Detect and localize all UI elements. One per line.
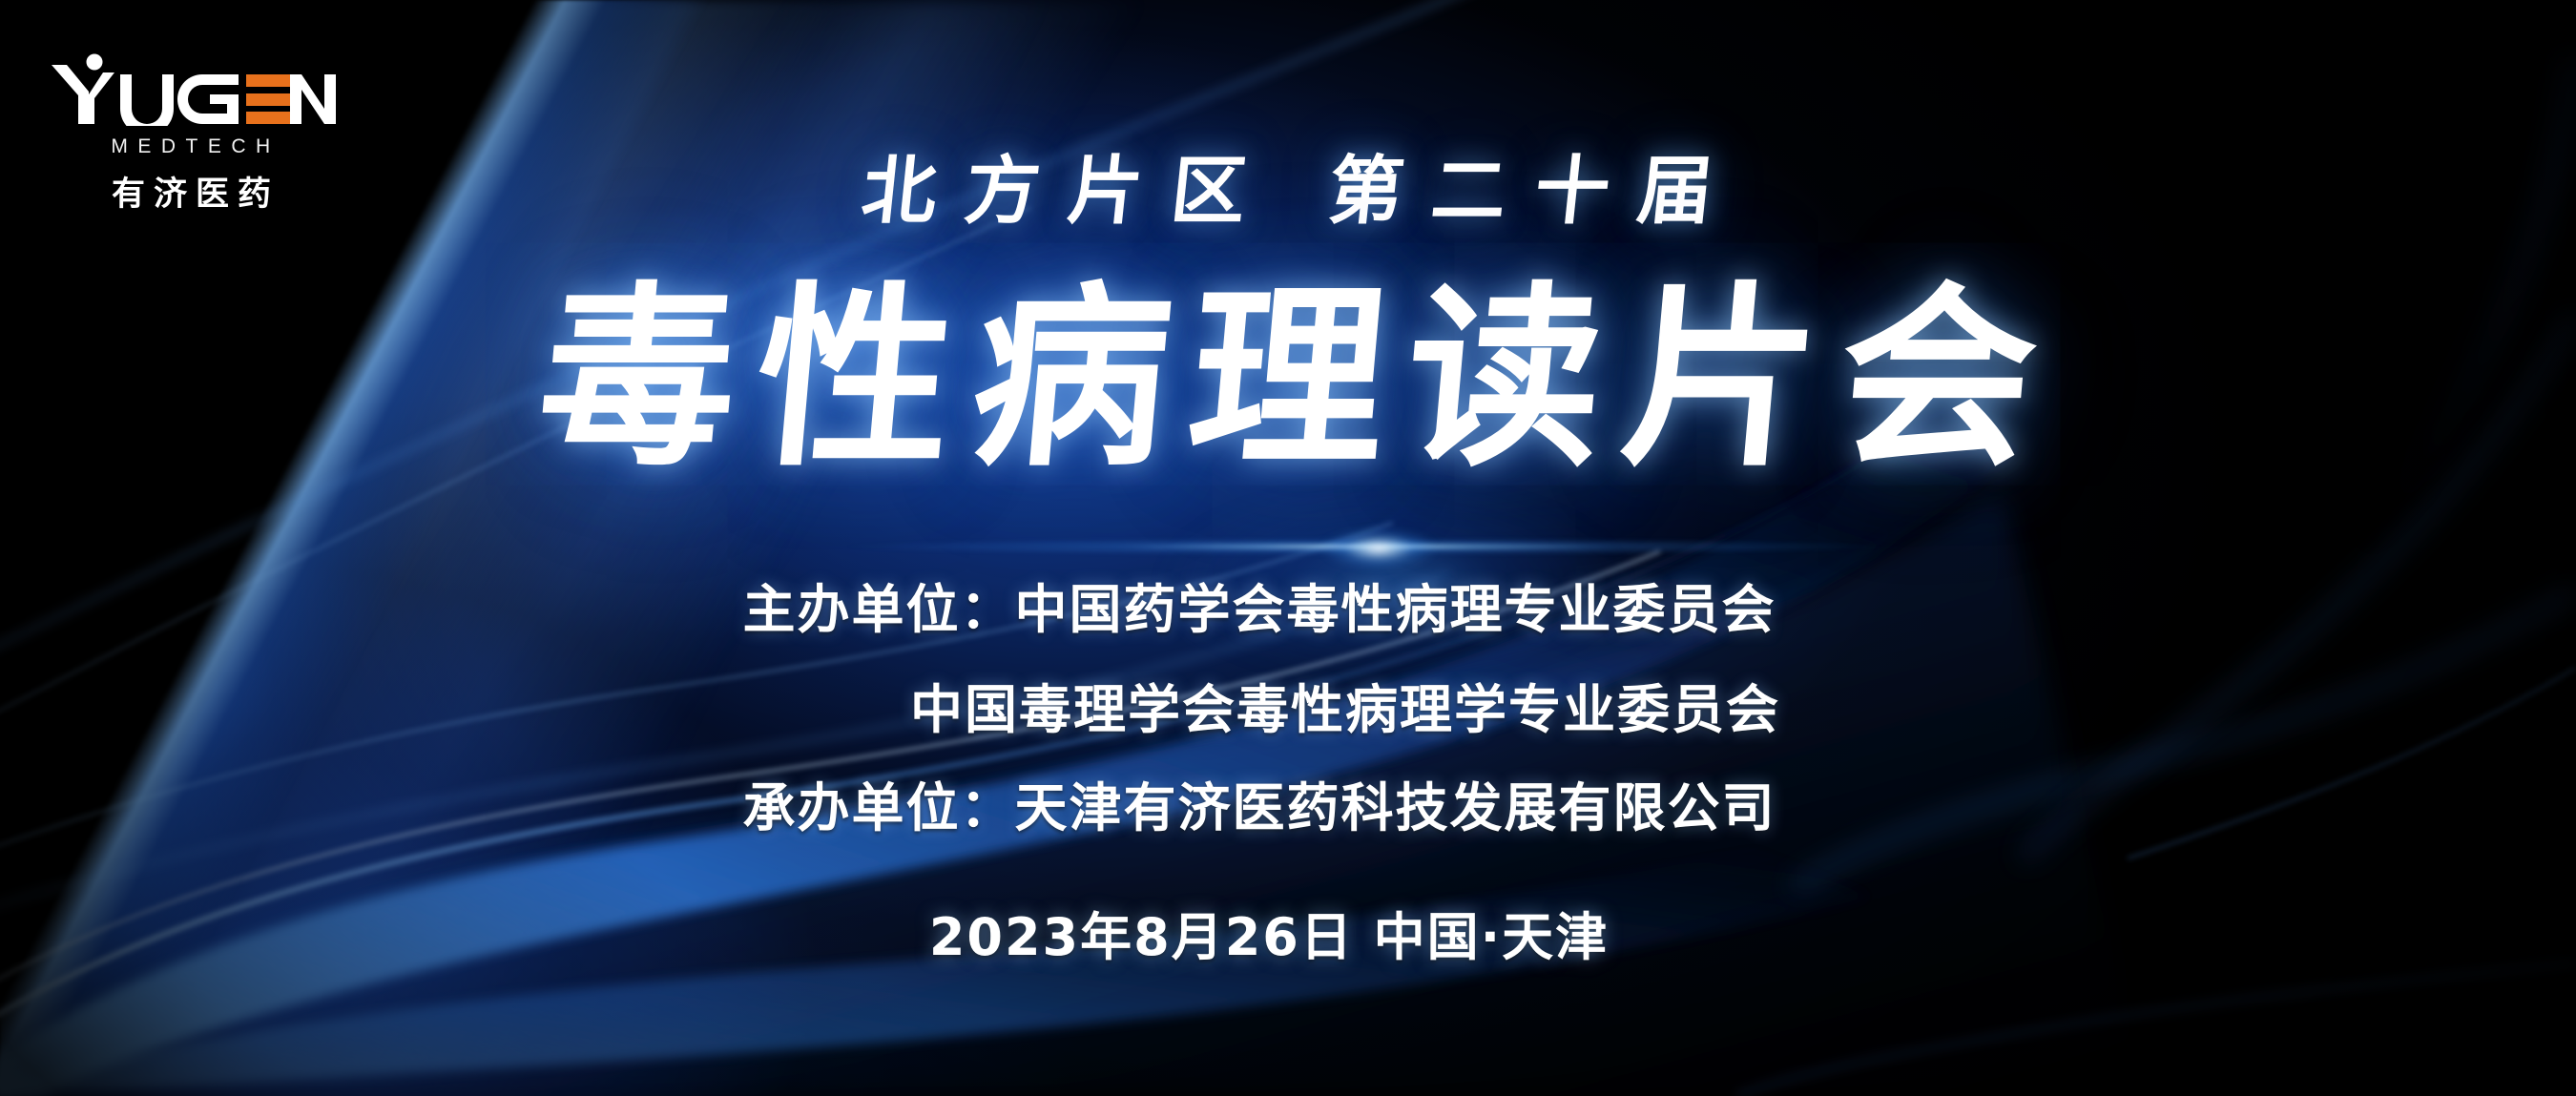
event-banner: MEDTECH 有济医药 北方片区 第二十届 毒性病理读片会 主办单位：中国药学… (0, 0, 2576, 1096)
yugen-wordmark-icon (50, 53, 336, 126)
event-headline: 毒性病理读片会 (0, 277, 2576, 482)
event-date-location: 2023年8月26日 中国·天津 (0, 895, 2576, 970)
event-kicker: 北方片区 第二十届 (0, 132, 2576, 238)
organizer-line: 承办单位：天津有济医药科技发展有限公司 (0, 782, 2576, 835)
logo-tagline-cn: 有济医药 (50, 167, 336, 216)
logo-tagline-en: MEDTECH (50, 135, 336, 158)
logo-wordmark (50, 55, 336, 126)
brand-logo[interactable]: MEDTECH 有济医药 (50, 55, 336, 216)
organizer-line: 主办单位：中国药学会毒性病理专业委员会 (0, 584, 2576, 636)
organizer-block: 主办单位：中国药学会毒性病理专业委员会 中国毒理学会毒性病理学专业委员会 承办单… (0, 584, 2576, 835)
organizer-line: 中国毒理学会毒性病理学专业委员会 (114, 684, 2576, 736)
